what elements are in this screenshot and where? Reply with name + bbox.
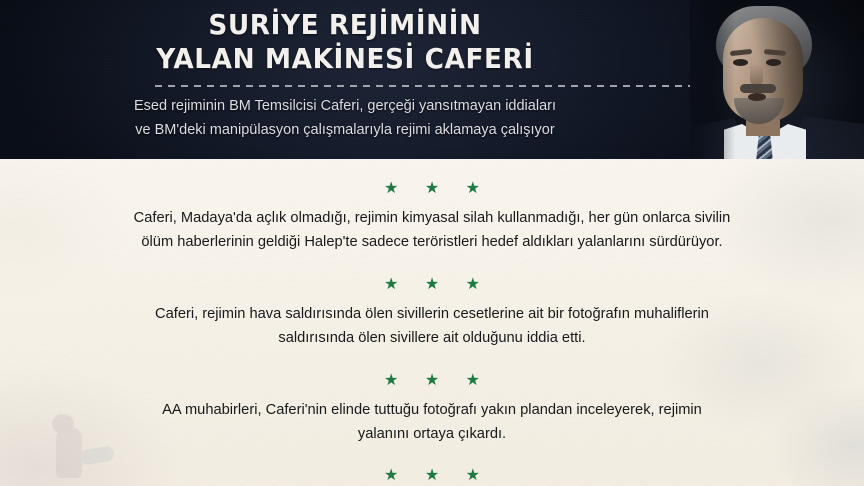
portrait-left-fade: [690, 0, 864, 159]
paragraph-2-line-2: saldırısında ölen sivillere ait olduğunu…: [94, 326, 770, 350]
paragraph-1-line-1: Caferi, Madaya'da açlık olmadığı, rejimi…: [94, 206, 770, 230]
paragraph-3: AA muhabirleri, Caferi'nin elinde tuttuğ…: [94, 398, 770, 446]
paragraph-3-line-1: AA muhabirleri, Caferi'nin elinde tuttuğ…: [94, 398, 770, 422]
paragraph-3-line-2: yalanını ortaya çıkardı.: [94, 422, 770, 446]
header-dashed-divider: [155, 85, 701, 87]
page-title-line-1: SURİYE REJİMİNİN: [21, 8, 670, 42]
header-title-block: SURİYE REJİMİNİN YALAN MAKİNESİ CAFERİ: [0, 8, 690, 76]
paragraph-1-line-2: ölüm haberlerinin geldiği Halep'te sadec…: [94, 230, 770, 254]
page-title: SURİYE REJİMİNİN YALAN MAKİNESİ CAFERİ: [21, 8, 670, 76]
header-subtitle-line-2: ve BM'deki manipülasyon çalışmalarıyla r…: [0, 118, 690, 142]
header-banner: SURİYE REJİMİNİN YALAN MAKİNESİ CAFERİ E…: [0, 0, 864, 159]
header-subtitle-line-1: Esed rejiminin BM Temsilcisi Caferi, ger…: [0, 94, 690, 118]
paragraph-1: Caferi, Madaya'da açlık olmadığı, rejimi…: [94, 206, 770, 254]
star-divider-1: ★ ★ ★: [0, 181, 864, 197]
paragraph-2-line-1: Caferi, rejimin hava saldırısında ölen s…: [94, 302, 770, 326]
portrait-photo: [690, 0, 864, 159]
page-title-line-2: YALAN MAKİNESİ CAFERİ: [21, 42, 670, 76]
star-divider-3: ★ ★ ★: [0, 373, 864, 389]
body-content: ★ ★ ★ Caferi, Madaya'da açlık olmadığı, …: [0, 159, 864, 486]
header-subtitle: Esed rejiminin BM Temsilcisi Caferi, ger…: [0, 94, 690, 142]
body-paper-panel: ★ ★ ★ Caferi, Madaya'da açlık olmadığı, …: [0, 159, 864, 486]
star-divider-2: ★ ★ ★: [0, 277, 864, 293]
infographic-card: SURİYE REJİMİNİN YALAN MAKİNESİ CAFERİ E…: [0, 0, 864, 486]
star-divider-4: ★ ★ ★: [0, 468, 864, 484]
paragraph-2: Caferi, rejimin hava saldırısında ölen s…: [94, 302, 770, 350]
